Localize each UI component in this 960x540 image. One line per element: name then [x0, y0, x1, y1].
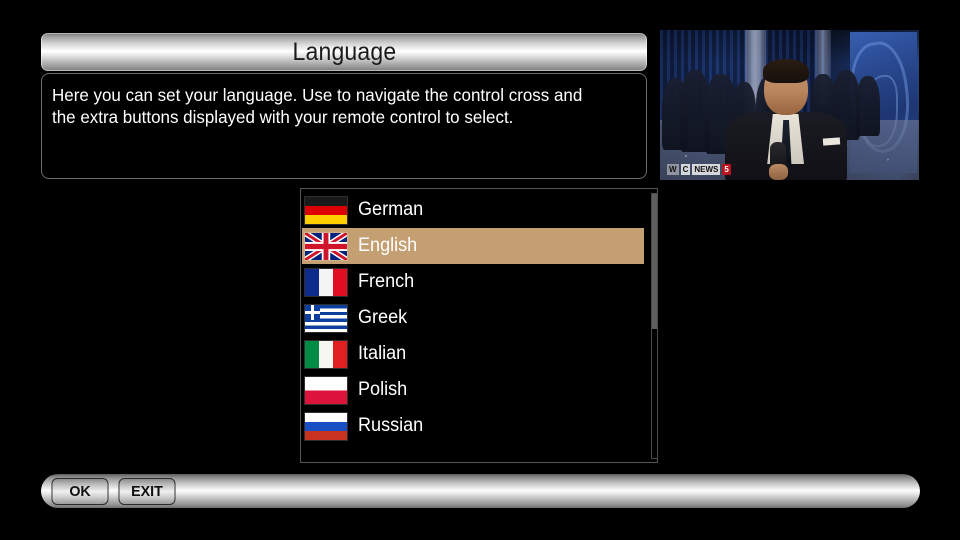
language-label: Italian: [358, 343, 406, 365]
flag-france-icon: [305, 269, 347, 296]
flag-poland-icon: [305, 377, 347, 404]
language-row-german[interactable]: German: [302, 192, 644, 228]
flag-italy-icon: [305, 341, 347, 368]
reporter-pocket-square: [823, 137, 840, 145]
language-row-greek[interactable]: Greek: [302, 300, 644, 336]
channel-bug-part3: NEWS: [692, 164, 720, 175]
flag-russia-icon: [305, 413, 347, 440]
info-panel: Here you can set your language. Use to n…: [41, 73, 647, 179]
flag-united-kingdom-icon: [305, 233, 347, 260]
language-label: Polish: [358, 379, 407, 401]
language-row-french[interactable]: French: [302, 264, 644, 300]
bottom-action-bar: OKEXIT: [41, 474, 920, 508]
reporter-hair: [763, 59, 809, 83]
title-bar: Language: [41, 33, 647, 71]
video-preview[interactable]: W C NEWS 5: [660, 30, 919, 180]
channel-bug-part1: W: [667, 164, 679, 175]
crowd-figure: [856, 76, 880, 136]
language-label: Greek: [358, 307, 407, 329]
language-row-italian[interactable]: Italian: [302, 336, 644, 372]
language-label: German: [358, 199, 423, 221]
language-list-panel: GermanEnglishFrenchGreekItalianPolishRus…: [300, 188, 658, 463]
language-row-polish[interactable]: Polish: [302, 372, 644, 408]
language-label: French: [358, 271, 414, 293]
language-row-russian[interactable]: Russian: [302, 408, 644, 444]
flag-germany-icon: [305, 197, 347, 224]
channel-logo-bug: W C NEWS 5: [667, 164, 731, 175]
scrollbar-track[interactable]: [651, 193, 658, 459]
flag-greece-icon: [305, 305, 347, 332]
language-label: English: [358, 235, 417, 257]
language-row-english[interactable]: English: [302, 228, 644, 264]
exit-button[interactable]: EXIT: [119, 478, 176, 505]
channel-bug-part4: 5: [722, 164, 730, 175]
tv-settings-screen: Language Here you can set your language.…: [0, 0, 960, 540]
info-text: Here you can set your language. Use to n…: [52, 84, 617, 129]
channel-bug-part2: C: [681, 164, 691, 175]
reporter-hand: [769, 164, 788, 180]
scrollbar-thumb[interactable]: [652, 194, 657, 329]
page-title: Language: [292, 38, 396, 67]
language-label: Russian: [358, 415, 423, 437]
language-list[interactable]: GermanEnglishFrenchGreekItalianPolishRus…: [302, 192, 644, 444]
ok-button[interactable]: OK: [52, 478, 109, 505]
